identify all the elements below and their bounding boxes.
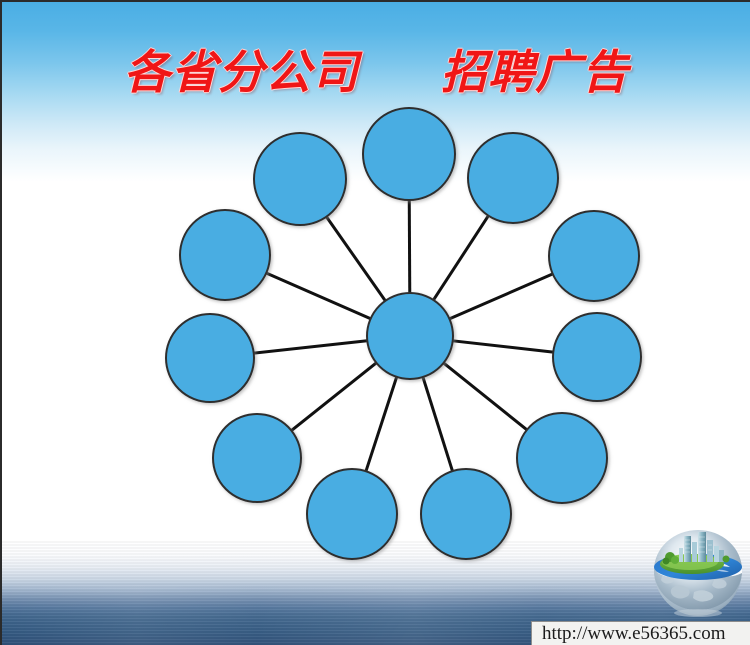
branch-node-3[interactable] bbox=[549, 211, 639, 301]
spoke-line-9 bbox=[253, 341, 369, 354]
branch-node-1[interactable] bbox=[363, 108, 455, 200]
spoke-line-2 bbox=[433, 215, 489, 301]
spoke-line-6 bbox=[423, 376, 453, 472]
spoke-line-4 bbox=[452, 341, 555, 353]
spoke-line-10 bbox=[265, 273, 371, 320]
branch-node-4[interactable] bbox=[553, 313, 641, 401]
branch-node-11[interactable] bbox=[254, 133, 346, 225]
spoke-line-1 bbox=[409, 199, 410, 294]
branch-node-2[interactable] bbox=[468, 133, 558, 223]
branch-node-10[interactable] bbox=[180, 210, 270, 300]
watermark-url-bar: http://www.e56365.com bbox=[531, 621, 750, 645]
slide-canvas: 各省分公司招聘广告 bbox=[0, 0, 750, 645]
globe-city-icon bbox=[650, 530, 746, 620]
branch-node-9[interactable] bbox=[166, 314, 254, 402]
branch-node-6[interactable] bbox=[421, 469, 511, 559]
branch-node-5[interactable] bbox=[517, 413, 607, 503]
branch-node-8[interactable] bbox=[213, 414, 301, 502]
spoke-line-8 bbox=[291, 362, 378, 431]
watermark-url-text: http://www.e56365.com bbox=[542, 623, 725, 645]
hub-node-group bbox=[367, 293, 453, 379]
hub-and-spoke-diagram bbox=[2, 2, 750, 645]
hub-node-center[interactable] bbox=[367, 293, 453, 379]
spoke-line-3 bbox=[449, 274, 554, 320]
branch-node-7[interactable] bbox=[307, 469, 397, 559]
globe-city-logo bbox=[650, 530, 746, 620]
spoke-line-5 bbox=[443, 362, 528, 430]
spoke-line-7 bbox=[366, 376, 397, 472]
spoke-line-11 bbox=[326, 216, 386, 302]
